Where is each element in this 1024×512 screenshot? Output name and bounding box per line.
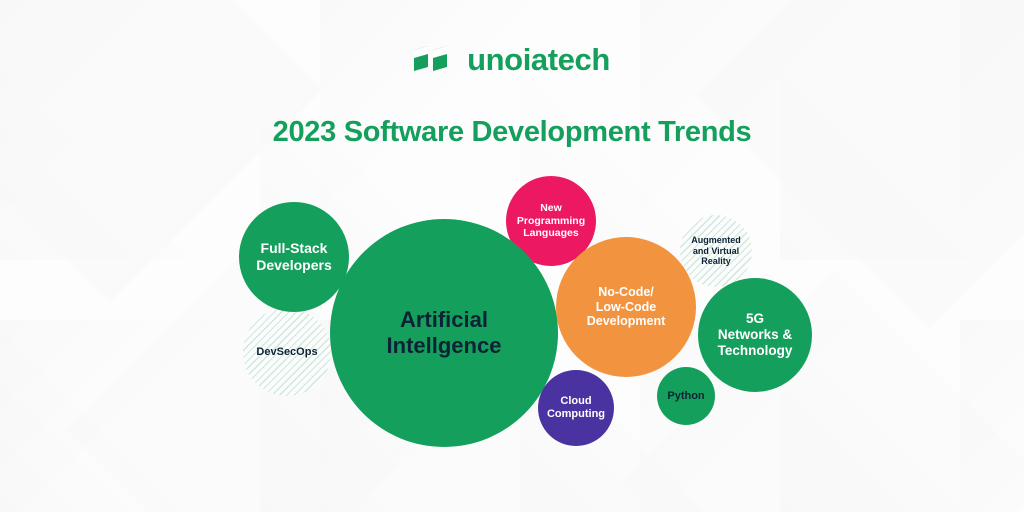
bubble-python: Python xyxy=(657,367,715,425)
bubble-cloud-computing: Cloud Computing xyxy=(538,370,614,446)
bubble-no-code-low-code-development: No-Code/ Low-Code Development xyxy=(556,237,696,377)
page-title: 2023 Software Development Trends xyxy=(0,116,1024,149)
bubble-5g-networks-technology: 5G Networks & Technology xyxy=(698,278,812,392)
bubble-devsecops: DevSecOps xyxy=(243,308,331,396)
unoiatech-logo-icon xyxy=(414,46,456,74)
bubble-augmented-and-virtual-reality: Augmented and Virtual Reality xyxy=(680,215,752,287)
infographic-canvas: unoiatech 2023 Software Development Tren… xyxy=(0,0,1024,512)
bubble-artificial-intellgence: Artificial Intellgence xyxy=(330,219,558,447)
bubble-full-stack-developers: Full-Stack Developers xyxy=(239,202,349,312)
brand-name: unoiatech xyxy=(467,44,610,75)
brand-logo: unoiatech xyxy=(0,44,1024,75)
